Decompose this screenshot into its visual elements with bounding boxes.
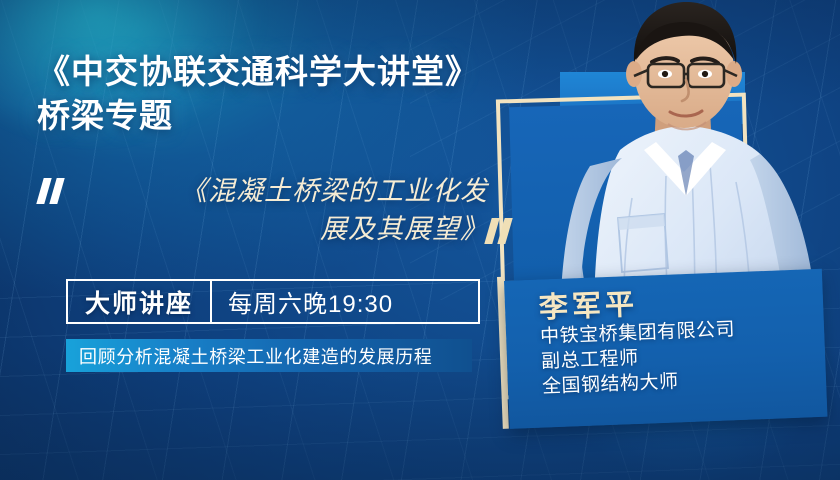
quote-close-icon [488, 218, 514, 244]
quote-line-2: 展及其展望》 [88, 210, 488, 248]
quote-text: 《混凝土桥梁的工业化发 展及其展望》 [88, 172, 488, 249]
poster-canvas: 《中交协联交通科学大讲堂》 桥梁专题 《混凝土桥梁的工业化发 展及其展望》 大师… [0, 0, 840, 480]
lecture-schedule-box: 大师讲座 每周六晚19:30 [66, 279, 480, 324]
title-line-1: 《中交协联交通科学大讲堂》 [37, 53, 479, 90]
quote-open-icon [40, 178, 66, 204]
page-title: 《中交协联交通科学大讲堂》 桥梁专题 [37, 50, 557, 137]
subtitle-text: 回顾分析混凝土桥梁工业化建造的发展历程 [79, 343, 432, 369]
subtitle-bar: 回顾分析混凝土桥梁工业化建造的发展历程 [66, 339, 472, 372]
speaker-info: 李军平 中铁宝桥集团有限公司 副总工程师 全国钢结构大师 [504, 269, 827, 429]
quote-line-1: 《混凝土桥梁的工业化发 [88, 172, 488, 210]
lecture-time: 每周六晚19:30 [212, 284, 409, 319]
lecture-label: 大师讲座 [68, 284, 210, 320]
title-line-2: 桥梁专题 [37, 94, 557, 138]
quote-block: 《混凝土桥梁的工业化发 展及其展望》 [36, 172, 536, 267]
